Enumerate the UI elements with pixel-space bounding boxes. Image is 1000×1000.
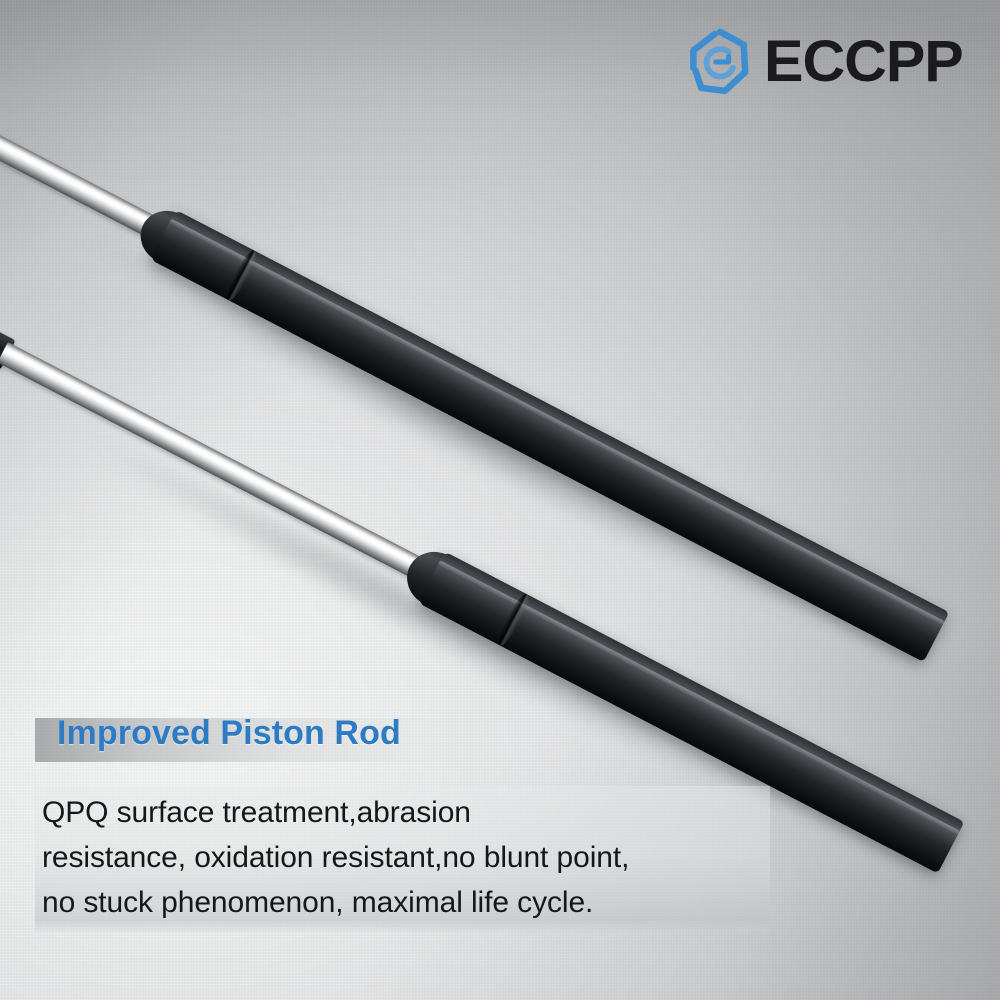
headline-text: Improved Piston Rod bbox=[57, 714, 401, 753]
product-marketing-image: ECCPP Improved Piston Rod QPQ surface tr… bbox=[0, 0, 1000, 1000]
eccpp-hexagon-e-logo-icon bbox=[684, 26, 756, 98]
description-line-2: resistance, oxidation resistant,no blunt… bbox=[42, 835, 782, 880]
brand-wordmark: ECCPP bbox=[764, 33, 963, 91]
description-line-1: QPQ surface treatment,abrasion bbox=[42, 790, 782, 835]
description-text: QPQ surface treatment,abrasion resistanc… bbox=[42, 790, 782, 925]
description-line-3: no stuck phenomenon, maximal life cycle. bbox=[42, 880, 782, 925]
brand-logo: ECCPP bbox=[684, 26, 959, 98]
